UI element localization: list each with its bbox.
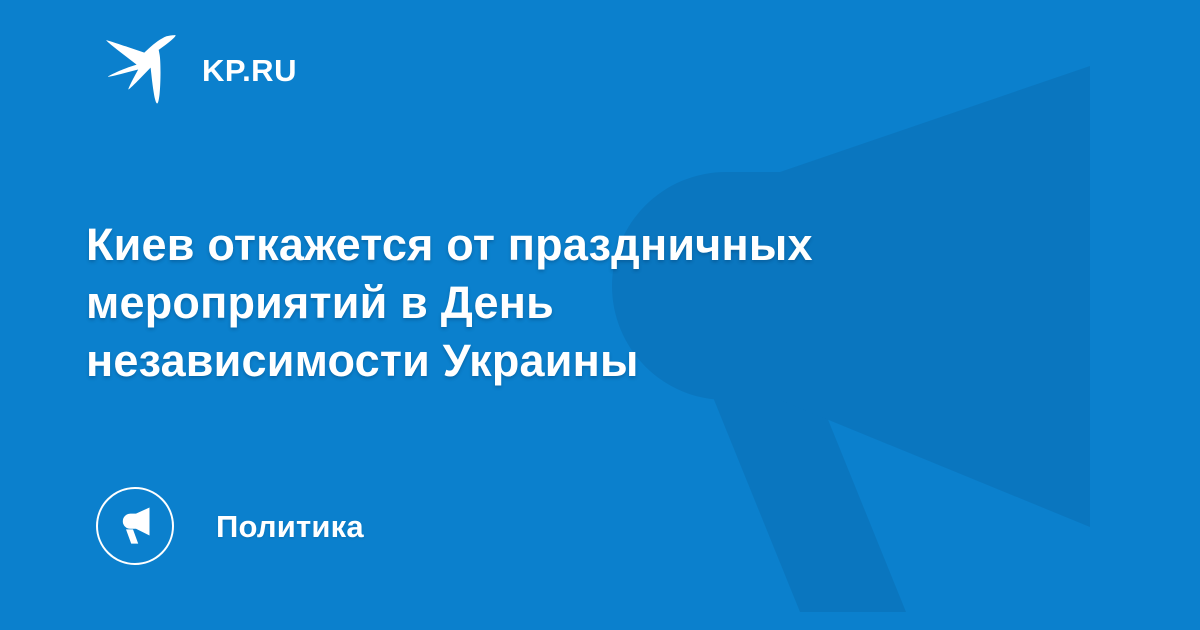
megaphone-icon bbox=[113, 506, 157, 546]
category-label: Политика bbox=[216, 511, 364, 542]
social-share-card: KP.RU Киев откажется от праздничных меро… bbox=[0, 0, 1200, 630]
category-section[interactable]: Политика bbox=[96, 486, 364, 566]
headline-line-2: мероприятий в День bbox=[86, 274, 1086, 332]
swallow-bird-icon bbox=[104, 35, 178, 105]
brand-logo[interactable]: KP.RU bbox=[104, 34, 297, 106]
headline-line-1: Киев откажется от праздничных bbox=[86, 216, 1086, 274]
category-badge bbox=[96, 487, 174, 565]
headline-line-3: независимости Украины bbox=[86, 332, 1086, 390]
headline: Киев откажется от праздничных мероприяти… bbox=[86, 216, 1086, 390]
brand-name: KP.RU bbox=[202, 55, 297, 86]
